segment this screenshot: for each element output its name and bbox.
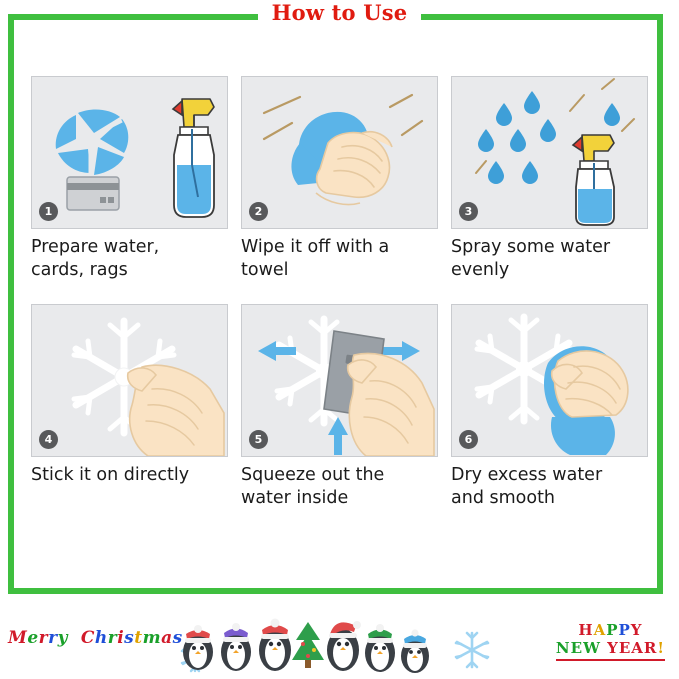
step-6-badge: 6 <box>459 430 478 449</box>
snowflake-right-icon <box>452 630 492 674</box>
how-to-use-infographic: How to Use <box>0 0 679 679</box>
step-2-badge: 2 <box>249 202 268 221</box>
step-1-image: 1 <box>31 76 228 229</box>
step-3-badge: 3 <box>459 202 478 221</box>
happy-new-year-text: HAPPY NEW YEAR! <box>556 621 665 661</box>
step-6: 6 Dry excess water and smooth <box>451 304 648 510</box>
step-3-caption: Spray some water evenly <box>451 236 648 282</box>
step-4-caption: Stick it on directly <box>31 464 228 487</box>
step-6-caption: Dry excess water and smooth <box>451 464 648 510</box>
step-5-image: 5 <box>241 304 438 457</box>
step-1-badge: 1 <box>39 202 58 221</box>
step-3: 3 Spray some water evenly <box>451 76 648 282</box>
step-2: 2 Wipe it off with a towel <box>241 76 438 282</box>
step-2-image: 2 <box>241 76 438 229</box>
step-4-image: 4 <box>31 304 228 457</box>
happy-line-1: HAPPY <box>556 621 665 639</box>
happy-underline <box>556 659 665 661</box>
hand-drying-cloth-icon <box>452 305 647 456</box>
rag-cards-spray-bottle-icon <box>32 77 227 228</box>
steps-row-1: 1 Prepare water, cards, rags <box>31 76 650 282</box>
footer-decorations: Merry Christmas <box>0 604 679 679</box>
step-2-caption: Wipe it off with a towel <box>241 236 438 282</box>
happy-line-2: NEW YEAR! <box>556 639 665 657</box>
step-6-image: 6 <box>451 304 648 457</box>
step-4: 4 Stick it on directly <box>31 304 228 510</box>
step-4-badge: 4 <box>39 430 58 449</box>
step-1: 1 Prepare water, cards, rags <box>31 76 228 282</box>
steps-grid: 1 Prepare water, cards, rags <box>31 76 650 510</box>
penguins-row-icon <box>170 612 440 678</box>
hand-squeegee-card-icon <box>242 305 437 456</box>
merry-christmas-text: Merry Christmas <box>8 628 183 648</box>
spray-bottle-water-drops-icon <box>452 77 647 228</box>
step-1-caption: Prepare water, cards, rags <box>31 236 228 282</box>
step-5-badge: 5 <box>249 430 268 449</box>
step-5: 5 Squeeze out the water inside <box>241 304 438 510</box>
step-5-caption: Squeeze out the water inside <box>241 464 438 510</box>
steps-row-2: 4 Stick it on directly <box>31 304 650 510</box>
hand-wiping-towel-icon <box>242 77 437 228</box>
step-3-image: 3 <box>451 76 648 229</box>
hand-sticking-snowflake-icon <box>32 305 227 456</box>
